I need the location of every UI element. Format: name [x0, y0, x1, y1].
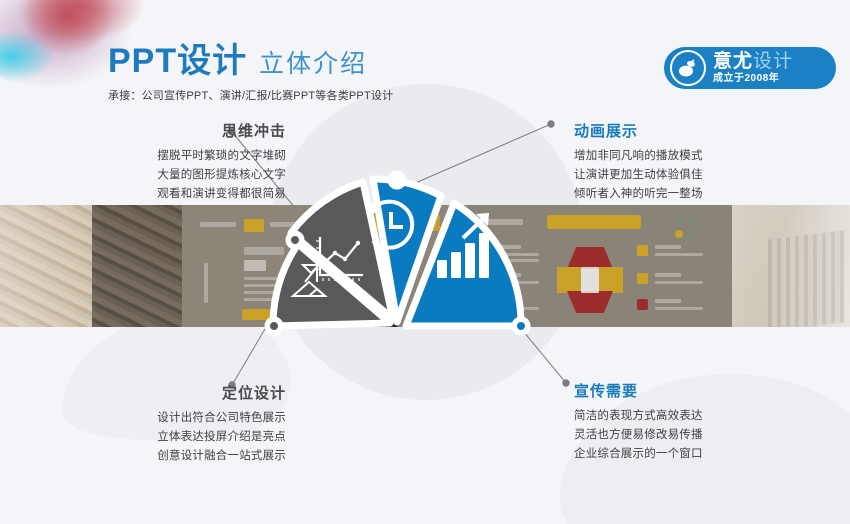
- mouse-badge-icon: [670, 50, 706, 86]
- callout-title: 动画展示: [574, 120, 804, 141]
- callout-line-2: 让演讲更加生动体验俱佳: [574, 166, 804, 185]
- callout-line-2: 灵活也方便易修改易传播: [574, 426, 804, 445]
- callout-positioning-design: 定位设计 设计出符合公司特色展示 立体表达投屏介绍是亮点 创意设计融合一站式展示: [56, 382, 286, 466]
- logo-name-strong: 意尤: [713, 51, 753, 72]
- page-header: PPT设计 立体介绍 承接：公司宣传PPT、演讲/汇报/比赛PPT等各类PPT设…: [108, 44, 393, 103]
- header-note: 承接：公司宣传PPT、演讲/汇报/比赛PPT等各类PPT设计: [108, 87, 393, 103]
- callout-line-3: 企业综合展示的一个窗口: [574, 445, 804, 464]
- brand-logo[interactable]: 意尤设计 成立于2008年: [664, 47, 836, 89]
- callout-title: 思维冲击: [56, 120, 286, 141]
- callout-line-1: 增加非同凡响的播放模式: [574, 147, 804, 166]
- callout-promotion-need: 宣传需要 简洁的表现方式高效表达 灵活也方便易修改易传播 企业综合展示的一个窗口: [574, 380, 804, 464]
- callout-line-3: 观看和演讲变得都很简易: [56, 185, 286, 204]
- page-subtitle: 立体介绍: [259, 52, 367, 77]
- callout-line-2: 立体表达投屏介绍是亮点: [56, 428, 286, 447]
- callout-line-1: 设计出符合公司特色展示: [56, 409, 286, 428]
- callout-line-1: 摆脱平时繁琐的文字堆砌: [56, 147, 286, 166]
- callout-thinking-impact: 思维冲击 摆脱平时繁琐的文字堆砌 大量的图形提炼核心文字 观看和演讲变得都很简易: [56, 120, 286, 204]
- callout-line-1: 简洁的表现方式高效表达: [574, 407, 804, 426]
- logo-established: 成立于2008年: [713, 74, 793, 84]
- callout-title: 定位设计: [56, 382, 286, 403]
- logo-name-dim: 设计: [753, 51, 793, 72]
- callout-line-2: 大量的图形提炼核心文字: [56, 166, 286, 185]
- slide-canvas: PPT设计 立体介绍 承接：公司宣传PPT、演讲/汇报/比赛PPT等各类PPT设…: [0, 0, 850, 524]
- callout-line-3: 倾听者入神的听完一整场: [574, 185, 804, 204]
- semicircle-fan-chart: [245, 155, 545, 330]
- callout-animation-display: 动画展示 增加非同凡响的播放模式 让演讲更加生动体验俱佳 倾听者入神的听完一整场: [574, 120, 804, 204]
- page-title: PPT设计: [108, 44, 247, 78]
- callout-title: 宣传需要: [574, 380, 804, 401]
- callout-line-3: 创意设计融合一站式展示: [56, 447, 286, 466]
